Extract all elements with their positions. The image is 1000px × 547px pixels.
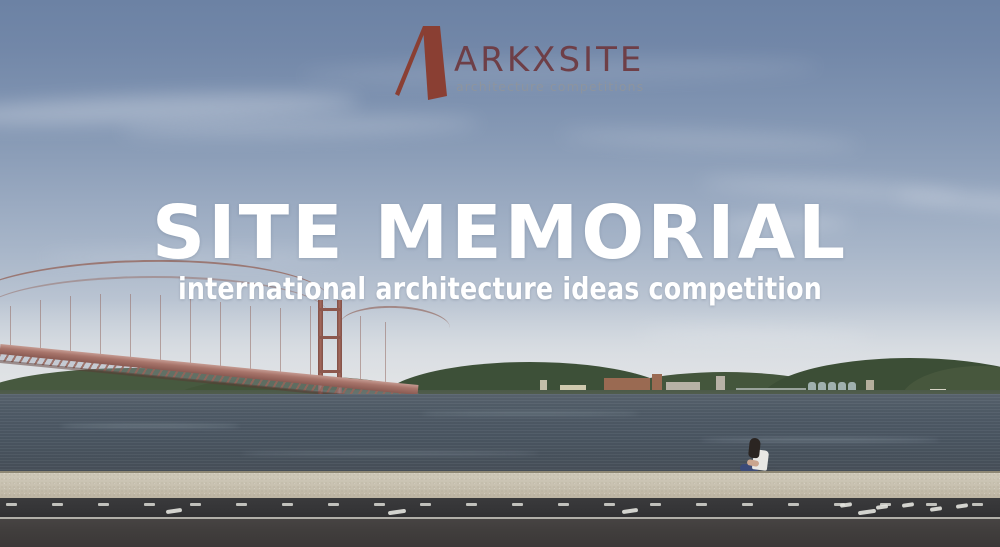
- bridge-tower-crossbeam: [318, 308, 342, 311]
- bridge-tower-crossbeam: [318, 370, 342, 373]
- bridge-hanger: [220, 302, 221, 374]
- arkxsite-logo[interactable]: ARKXSITE architecture competitions: [392, 22, 632, 102]
- foreground-pavement: [0, 519, 1000, 547]
- water-glint: [60, 424, 240, 428]
- bridge-hanger: [10, 306, 11, 348]
- bridge-hanger: [190, 298, 191, 370]
- bridge-hanger: [160, 295, 161, 365]
- page-subtitle: international architecture ideas competi…: [30, 275, 970, 305]
- water-glint: [240, 452, 540, 455]
- quay-wall: [0, 473, 1000, 498]
- bridge-hanger: [310, 306, 311, 384]
- page-title: SITE MEMORIAL: [0, 196, 1000, 270]
- bridge-hanger: [40, 300, 41, 350]
- logo-tagline: architecture competitions: [456, 79, 644, 94]
- river-water: [0, 394, 1000, 474]
- logo-wordmark: ARKXSITE: [454, 40, 644, 80]
- water-glint: [420, 412, 640, 415]
- arkxsite-a-mark: [392, 22, 462, 102]
- cloud-streak: [560, 127, 860, 153]
- water-glint: [700, 438, 940, 442]
- bridge-deck: [0, 344, 418, 395]
- bridge-hanger: [250, 306, 251, 378]
- bridge-tower-crossbeam: [318, 336, 342, 339]
- bridge-hanger: [360, 316, 361, 382]
- bridge-hanger: [385, 322, 386, 386]
- bridge-hanger: [280, 308, 281, 381]
- competition-poster: ARKXSITE architecture competitions SITE …: [0, 0, 1000, 547]
- person-hair: [748, 437, 761, 458]
